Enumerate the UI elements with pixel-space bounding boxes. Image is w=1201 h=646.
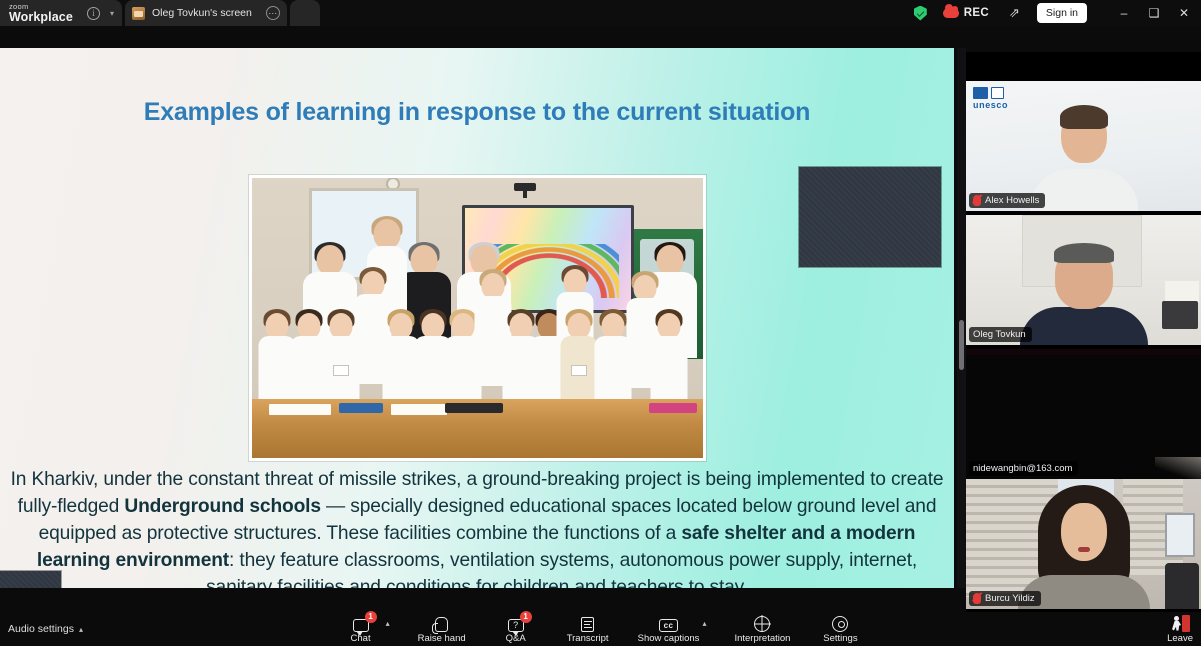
chat-button[interactable]: 1 Chat: [339, 615, 383, 644]
unesco-logo: unesco: [973, 87, 1008, 110]
shared-content-scrollbar[interactable]: [957, 48, 966, 588]
recording-label: REC: [964, 7, 989, 19]
slide-body-text: In Kharkiv, under the constant threat of…: [8, 466, 946, 588]
chat-badge: 1: [365, 611, 377, 623]
slide-title: Examples of learning in response to the …: [0, 98, 954, 127]
qa-badge: 1: [520, 611, 532, 623]
gear-icon: [832, 615, 848, 632]
transcript-label: Transcript: [567, 633, 609, 644]
sign-in-button[interactable]: Sign in: [1037, 3, 1087, 23]
transcript-icon: [581, 615, 594, 632]
interpretation-label: Interpretation: [734, 633, 790, 644]
shared-screen-tab-label: Oleg Tovkun's screen: [152, 7, 259, 19]
chevron-up-icon[interactable]: ▴: [702, 619, 706, 628]
chat-icon: 1: [353, 615, 369, 632]
muted-microphone-icon: [973, 195, 981, 206]
tab-strip-overflow[interactable]: [290, 0, 320, 26]
transcript-button[interactable]: Transcript: [566, 615, 610, 644]
participant-name: nidewangbin@163.com: [973, 463, 1072, 474]
show-captions-button[interactable]: cc Show captions: [638, 615, 700, 644]
participant-tile[interactable]: Oleg Tovkun: [966, 215, 1201, 345]
participant-video: [966, 349, 1201, 479]
more-options-icon[interactable]: ⋯: [266, 6, 280, 20]
captions-control-group: cc Show captions ▴: [638, 615, 707, 644]
chevron-up-icon[interactable]: ▴: [386, 619, 390, 628]
globe-icon: [754, 615, 770, 632]
question-answer-icon: ? 1: [508, 615, 524, 632]
brand-workplace-label: Workplace: [9, 11, 73, 24]
meeting-stage: Examples of learning in response to the …: [0, 26, 1201, 612]
show-captions-label: Show captions: [638, 633, 700, 644]
settings-label: Settings: [823, 633, 857, 644]
classroom-photo: [249, 175, 706, 461]
close-button[interactable]: ✕: [1169, 0, 1199, 26]
photo-frame: [249, 175, 706, 461]
chat-control-group: 1 Chat ▴: [339, 615, 390, 644]
participant-video: [966, 215, 1201, 345]
brand-zoom-label: zoom: [9, 3, 73, 11]
participant-video: [966, 479, 1201, 609]
raise-hand-icon: [435, 615, 448, 632]
meeting-toolbar: Audio settings ▴ 1 Chat ▴ Raise hand: [0, 612, 1201, 646]
participant-video: unesco: [966, 81, 1201, 211]
participant-video-strip: unesco Alex Howells Oleg Tovkun: [966, 52, 1201, 638]
shield-check-icon[interactable]: [914, 6, 927, 21]
settings-button[interactable]: Settings: [818, 615, 862, 644]
leave-meeting-button[interactable]: Leave: [1167, 615, 1193, 644]
qa-button[interactable]: ? 1 Q&A: [494, 615, 538, 644]
participant-name: Oleg Tovkun: [973, 329, 1026, 340]
muted-microphone-icon: [973, 593, 981, 604]
raise-hand-button[interactable]: Raise hand: [418, 615, 466, 644]
minimize-button[interactable]: –: [1109, 0, 1139, 26]
info-circle-icon[interactable]: i: [87, 7, 100, 20]
toolbar-items: 1 Chat ▴ Raise hand ? 1 Q&A: [0, 615, 1201, 644]
leave-label: Leave: [1167, 633, 1193, 644]
participant-name: Burcu Yildiz: [985, 593, 1035, 604]
participant-name-badge: Alex Howells: [969, 193, 1045, 208]
participant-tile[interactable]: nidewangbin@163.com: [966, 349, 1201, 479]
shared-screen-tab[interactable]: Oleg Tovkun's screen ⋯: [125, 0, 287, 26]
video-placeholder-overlay-top: [799, 167, 941, 267]
leave-meeting-icon: [1170, 615, 1190, 632]
cloud-recording-icon: [943, 8, 959, 18]
shared-slide[interactable]: Examples of learning in response to the …: [0, 48, 954, 588]
window-controls: REC ⇗ Sign in – ❑ ✕: [914, 0, 1201, 26]
interpretation-button[interactable]: Interpretation: [734, 615, 790, 644]
scrollbar-thumb[interactable]: [959, 320, 964, 370]
participant-tile[interactable]: Burcu Yildiz: [966, 479, 1201, 609]
expand-icon[interactable]: ⇗: [1009, 5, 1020, 21]
home-tab[interactable]: zoom Workplace i ▾: [0, 0, 122, 26]
participant-tile[interactable]: unesco Alex Howells: [966, 81, 1201, 211]
screen-share-icon: [132, 7, 145, 20]
raise-hand-label: Raise hand: [418, 633, 466, 644]
title-bar: zoom Workplace i ▾ Oleg Tovkun's screen …: [0, 0, 1201, 26]
participant-name-badge: Burcu Yildiz: [969, 591, 1041, 606]
maximize-button[interactable]: ❑: [1139, 0, 1169, 26]
chevron-down-icon[interactable]: ▾: [110, 9, 114, 18]
participant-name: Alex Howells: [985, 195, 1039, 206]
participant-name-badge: Oleg Tovkun: [969, 327, 1032, 342]
participant-name-badge: nidewangbin@163.com: [969, 461, 1078, 476]
recording-indicator[interactable]: REC: [943, 7, 989, 19]
zoom-workplace-logo: zoom Workplace: [9, 3, 73, 24]
closed-caption-icon: cc: [659, 615, 678, 632]
zoom-meeting-window: zoom Workplace i ▾ Oleg Tovkun's screen …: [0, 0, 1201, 646]
